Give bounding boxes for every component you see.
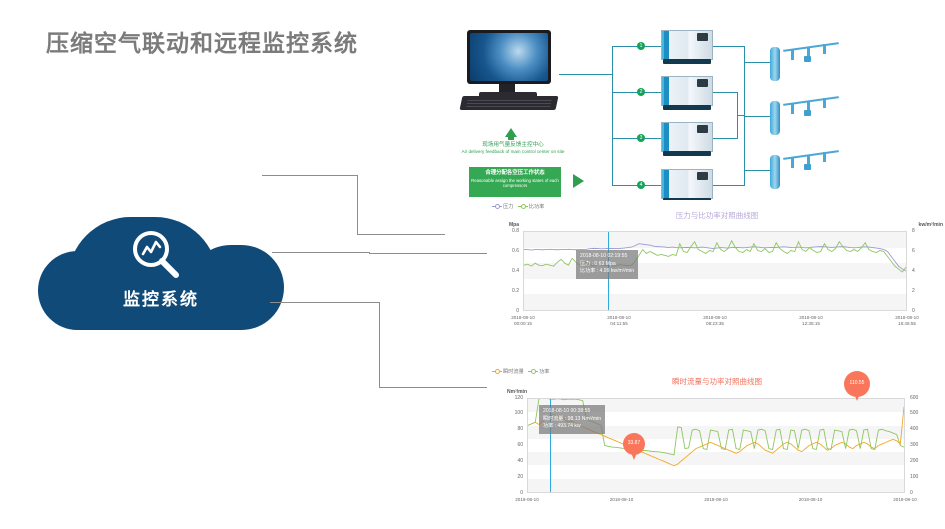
- chart2-legend-1: 功率: [539, 369, 549, 375]
- chart1-legend[interactable]: 压力 比功率: [492, 203, 544, 210]
- node-dot-2: 2: [637, 88, 645, 96]
- green-box-cn: 合理分配各空压工作状态: [469, 170, 561, 177]
- page-title: 压缩空气联动和远程监控系统: [46, 24, 358, 58]
- pipe-left-bus: [612, 46, 613, 186]
- feedback-arrow-icon: [505, 128, 517, 137]
- connector-1-vertical: [357, 175, 358, 235]
- monitoring-cloud[interactable]: 监控系统: [38, 195, 288, 330]
- connector-1-horizontal-a: [262, 175, 358, 176]
- ytick: 40: [501, 458, 523, 464]
- compressor-unit-2: [661, 76, 713, 110]
- rail-drop-3a: [791, 158, 794, 168]
- xtick-date: 2018-08-10: [610, 497, 634, 502]
- xtick-time: 16:46:55: [898, 321, 916, 326]
- system-topology-diagram: 现场用气量反馈主控中心 Air delivery feedback of mai…: [455, 22, 945, 204]
- chart2-tooltip-timestamp: 2018-08-10 00:38:55: [543, 408, 601, 416]
- pressure-power-chart[interactable]: 压力 比功率 压力与比功率对照曲线图 Mpa kw/m³/min 2018-08…: [487, 200, 945, 335]
- xtick-time: 00:00:15: [514, 321, 532, 326]
- xtick-date: 2018-08-10: [515, 497, 539, 502]
- ytick: 0.8: [497, 228, 519, 234]
- chart2-pin-min-label: 33.87: [623, 440, 645, 446]
- chart2-title: 瞬时流量与功率对照曲线图: [607, 376, 827, 387]
- green-arrow-icon: [573, 174, 584, 188]
- chart1-ylabel-right: kw/m³/min: [919, 222, 943, 228]
- ytick: 120: [501, 395, 523, 401]
- air-tool-1: [804, 56, 811, 62]
- ytick: 0.2: [497, 288, 519, 294]
- air-tool-3: [804, 164, 811, 170]
- green-box-en: Reasonable assign the working states of …: [469, 178, 561, 189]
- rail-drop-1a: [791, 50, 794, 60]
- pipe-out-1: [713, 46, 745, 47]
- xtick-time: 08:23:35: [706, 321, 724, 326]
- ytick: 0: [497, 308, 519, 314]
- node-dot-4: 4: [637, 181, 645, 189]
- xtick: 2018-08-1016:46:55: [885, 315, 929, 326]
- keyboard-icon: [460, 96, 559, 110]
- chart2-tooltip-line2: 功率 : 493.74 kw: [543, 423, 601, 431]
- air-tank-1: [770, 47, 780, 81]
- connector-3-horizontal-b: [379, 387, 491, 388]
- air-tool-2: [804, 110, 811, 116]
- xtick-date: 2018-08-10: [704, 497, 728, 502]
- rail-drop-2a: [791, 104, 794, 114]
- rail-drop-2c: [823, 98, 826, 108]
- ytick: 0.4: [497, 268, 519, 274]
- feedback-caption: 现场用气量反馈主控中心 Air delivery feedback of mai…: [457, 142, 569, 155]
- pipe-tank-2: [744, 116, 772, 117]
- chart2-tooltip: 2018-08-10 00:38:55 瞬时流量 : 98.13 Nm³/min…: [539, 405, 605, 434]
- feedback-caption-en: Air delivery feedback of main control ce…: [462, 149, 565, 154]
- xtick-date: 2018-08-10: [607, 315, 631, 320]
- ytick: 600: [910, 395, 918, 401]
- xtick-time: 12:35:15: [802, 321, 820, 326]
- green-status-box: 合理分配各空压工作状态 Reasonable assign the workin…: [469, 167, 561, 197]
- chart-magnifier-icon: [126, 225, 186, 285]
- xtick-date: 2018-08-10: [799, 497, 823, 502]
- feedback-caption-cn: 现场用气量反馈主控中心: [457, 142, 569, 149]
- compressor-unit-1: [661, 30, 713, 64]
- xtick: 2018-08-1008:23:35: [693, 315, 737, 326]
- ytick: 0: [910, 490, 913, 496]
- ytick: 500: [910, 410, 918, 416]
- air-tank-3: [770, 155, 780, 189]
- ytick: 400: [910, 426, 918, 432]
- monitor-icon: [467, 30, 551, 84]
- xtick-date: 2018-08-10: [703, 315, 727, 320]
- xtick: 2018-08-10: [600, 497, 644, 503]
- chart2-pin-max[interactable]: 110.55: [844, 371, 870, 397]
- flow-power-chart[interactable]: 瞬时流量 功率 瞬时流量与功率对照曲线图 Nm³/min 2018-08-10 …: [487, 365, 945, 529]
- pipe-out-2: [713, 92, 738, 93]
- xtick: 2018-08-10: [789, 497, 833, 503]
- ytick: 100: [501, 410, 523, 416]
- ytick: 300: [910, 442, 918, 448]
- pipe-tank-1: [744, 62, 772, 63]
- cloud-label: 监控系统: [38, 285, 284, 310]
- xtick-date: 2018-08-10: [799, 315, 823, 320]
- ytick: 8: [912, 228, 915, 234]
- xtick: 2018-08-10: [694, 497, 738, 503]
- compressor-unit-4: [661, 169, 713, 203]
- chart2-pin-min[interactable]: 33.87: [623, 433, 645, 455]
- chart1-title: 压力与比功率对照曲线图: [607, 210, 827, 221]
- monitor-screen: [470, 33, 548, 81]
- pipe-out-4: [713, 185, 745, 186]
- chart1-legend-0: 压力: [503, 204, 513, 210]
- chart1-tooltip: 2018-08-10 02:19:55 压力 : 0.63 Mpa 比功率 : …: [576, 250, 638, 279]
- ytick: 20: [501, 474, 523, 480]
- xtick: 2018-08-10: [883, 497, 927, 503]
- ytick: 200: [910, 458, 918, 464]
- chart1-tooltip-line2: 比功率 : 4.99 kw/m³/min: [580, 268, 634, 276]
- chart2-legend[interactable]: 瞬时流量 功率: [492, 368, 549, 375]
- ytick: 100: [910, 474, 918, 480]
- compressor-unit-3: [661, 122, 713, 156]
- ytick: 0: [912, 308, 915, 314]
- node-dot-3: 3: [637, 134, 645, 142]
- connector-1-horizontal-b: [357, 234, 445, 235]
- xtick-time: 04:11:55: [610, 321, 628, 326]
- xtick-date: 2018-08-10: [895, 315, 919, 320]
- ytick: 0: [501, 490, 523, 496]
- connector-2-horizontal-b: [369, 253, 489, 254]
- xtick-date: 2018-08-10: [893, 497, 917, 502]
- ytick: 0.6: [497, 248, 519, 254]
- node-dot-1: 1: [637, 42, 645, 50]
- xtick: 2018-08-1004:11:55: [597, 315, 641, 326]
- xtick: 2018-08-1012:35:15: [789, 315, 833, 326]
- air-tank-2: [770, 101, 780, 135]
- chart1-legend-1: 比功率: [529, 204, 545, 210]
- ytick: 60: [501, 442, 523, 448]
- pipe-monitor-to-bus: [559, 74, 613, 75]
- xtick: 2018-08-1000:00:15: [501, 315, 545, 326]
- xtick: 2018-08-10: [505, 497, 549, 503]
- ytick: 6: [912, 248, 915, 254]
- chart2-legend-0: 瞬时流量: [503, 369, 524, 375]
- chart2-pin-max-label: 110.55: [844, 380, 870, 386]
- rail-drop-1c: [823, 44, 826, 54]
- connector-2-horizontal-a: [272, 252, 370, 253]
- pipe-tank-3: [744, 170, 772, 171]
- chart1-tooltip-timestamp: 2018-08-10 02:19:55: [580, 253, 634, 261]
- ytick: 80: [501, 426, 523, 432]
- ytick: 4: [912, 268, 915, 274]
- pipe-out-3: [713, 138, 738, 139]
- ytick: 2: [912, 288, 915, 294]
- xtick-date: 2018-08-10: [511, 315, 535, 320]
- connector-3-vertical: [379, 302, 380, 388]
- connector-3-horizontal-a: [270, 302, 380, 303]
- rail-drop-3c: [823, 152, 826, 162]
